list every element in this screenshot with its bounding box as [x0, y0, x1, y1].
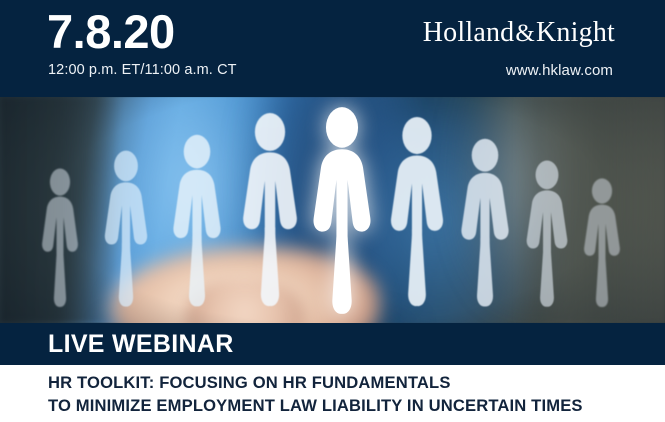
logo-ampersand: & — [514, 20, 536, 47]
live-webinar-label: LIVE WEBINAR — [48, 329, 234, 359]
figure-5 — [307, 105, 377, 317]
logo-word-knight: Knight — [536, 17, 615, 48]
hero-photo — [0, 97, 665, 323]
figure-1 — [38, 167, 82, 309]
figure-3 — [168, 133, 226, 309]
website-url[interactable]: www.hklaw.com — [506, 62, 613, 79]
banner-header: 7.8.20 12:00 p.m. ET/11:00 a.m. CT Holla… — [0, 0, 665, 97]
event-date: 7.8.20 — [47, 8, 175, 55]
figure-2 — [100, 149, 152, 309]
webinar-title-line-1: HR TOOLKIT: FOCUSING ON HR FUNDAMENTALS — [48, 372, 653, 395]
figure-8 — [522, 159, 572, 309]
figure-7 — [456, 137, 514, 309]
figure-9 — [580, 177, 624, 309]
event-time: 12:00 p.m. ET/11:00 a.m. CT — [48, 62, 237, 78]
figure-4 — [237, 111, 303, 309]
logo-word-holland: Holland — [423, 17, 515, 48]
holland-knight-logo[interactable]: Holland&Knight — [423, 17, 615, 49]
webinar-title: HR TOOLKIT: FOCUSING ON HR FUNDAMENTALS … — [48, 372, 653, 418]
figure-6 — [385, 115, 449, 309]
webinar-banner: 7.8.20 12:00 p.m. ET/11:00 a.m. CT Holla… — [0, 0, 665, 422]
webinar-title-line-2: TO MINIMIZE EMPLOYMENT LAW LIABILITY IN … — [48, 395, 653, 418]
people-silhouette-row — [0, 97, 665, 323]
live-webinar-band: LIVE WEBINAR — [0, 323, 665, 365]
